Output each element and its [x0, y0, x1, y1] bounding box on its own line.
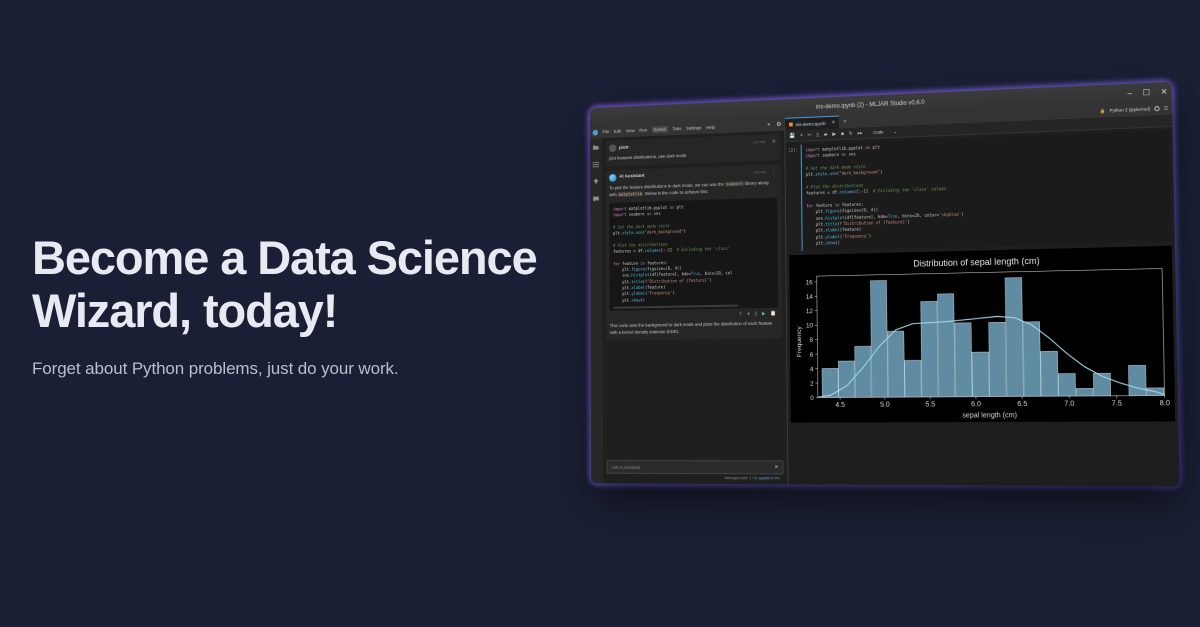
message-footer-text: This code sets the background to dark mo…: [610, 321, 779, 337]
run-icon[interactable]: ▶: [832, 131, 836, 137]
svg-text:6.0: 6.0: [971, 400, 981, 407]
insert-icon[interactable]: ⇧: [739, 312, 743, 318]
menu-settings[interactable]: Settings: [686, 125, 702, 130]
cut-icon[interactable]: ✂: [807, 132, 811, 138]
chat-message-assistant: AI Assistant 1:47 PM ⋮ To plot the featu…: [605, 164, 782, 341]
close-icon[interactable]: ✕: [772, 139, 776, 145]
svg-text:4: 4: [810, 365, 814, 372]
tab-label: iris-demo.ipynb: [796, 121, 826, 127]
message-text: plot features distributions, use dark mo…: [609, 150, 777, 163]
cell-prompt: [2]:: [788, 145, 799, 251]
window-controls: – ☐ ✕: [1127, 82, 1167, 103]
svg-text:7.5: 7.5: [1112, 400, 1123, 408]
notebook-cell-area[interactable]: [2]: import matplotlib.pyplot as plt imp…: [785, 127, 1179, 486]
cell-output: Distribution of sepal length (cm) 4.55.0…: [789, 245, 1175, 422]
chat-input-area: Ask AI Assistant ➤ Messages used: 1 / 30…: [603, 456, 788, 484]
kernel-status[interactable]: 🔒 Python 3 (ipykernel) ☰: [1100, 105, 1173, 114]
upgrade-link[interactable]: upgrade to Pro: [758, 476, 780, 480]
new-tab-button[interactable]: +: [839, 119, 850, 125]
svg-text:2: 2: [810, 380, 814, 387]
svg-text:8.0: 8.0: [1159, 399, 1170, 407]
quota-text: Messages used: 1 / 30: [725, 476, 758, 480]
maximize-button[interactable]: ☐: [1143, 88, 1151, 97]
paste-icon[interactable]: ▰: [824, 131, 828, 137]
svg-text:14: 14: [806, 293, 814, 300]
svg-text:sepal length (cm): sepal length (cm): [962, 412, 1017, 420]
add-cell-icon[interactable]: +: [800, 132, 803, 138]
more-options-icon[interactable]: ⋮: [771, 169, 776, 175]
menu-file[interactable]: File: [603, 129, 610, 134]
svg-text:5.5: 5.5: [925, 401, 935, 408]
cell-editor[interactable]: import matplotlib.pyplot as plt import s…: [801, 130, 1172, 250]
text-part-3: . Below is the code to achieve this:: [643, 189, 708, 196]
code-block-toolbar: ⇧ ▾ ▯ ▶ 📋: [610, 308, 779, 320]
chat-message-user: piotr 1:47 PM ✕ plot features distributi…: [605, 134, 780, 167]
hero-section: Become a Data Science Wizard, today! For…: [32, 232, 592, 379]
inline-code-matplotlib: matplotlib: [618, 191, 643, 197]
svg-text:Frequency: Frequency: [796, 325, 803, 357]
menu-run[interactable]: Run: [639, 128, 647, 133]
svg-text:7.0: 7.0: [1064, 400, 1074, 407]
restart-icon[interactable]: ↻: [849, 130, 853, 136]
svg-text:5.0: 5.0: [880, 401, 890, 408]
page-title: Become a Data Science Wizard, today!: [32, 232, 592, 337]
tab-close-icon[interactable]: ✕: [831, 120, 835, 126]
histogram-chart: Distribution of sepal length (cm) 4.55.0…: [791, 248, 1173, 420]
cell-type-select[interactable]: Code ⌄: [873, 128, 897, 135]
inline-code-seaborn: seaborn: [725, 181, 744, 187]
extensions-icon[interactable]: [593, 178, 599, 185]
cell-type-label: Code: [873, 130, 883, 135]
ai-chat-pane: File Edit View Run Kernel Tabs Settings …: [590, 118, 789, 485]
chevron-down-icon: ⌄: [893, 128, 897, 134]
copy-cell-icon[interactable]: ▯: [755, 311, 758, 317]
app-window-frame: iris-demo.ipynb (2) - MLJAR Studio v0.6.…: [590, 82, 1180, 487]
avatar: [609, 144, 616, 152]
copy-icon[interactable]: ▯: [816, 132, 819, 138]
notebook-cell: [2]: import matplotlib.pyplot as plt imp…: [788, 130, 1171, 251]
svg-text:6: 6: [810, 351, 814, 358]
menu-edit[interactable]: Edit: [614, 129, 621, 134]
message-quota-status: Messages used: 1 / 30 upgrade to Pro: [607, 474, 784, 481]
minimize-button[interactable]: –: [1127, 89, 1132, 97]
lock-icon: 🔒: [1100, 108, 1106, 114]
menu-icon[interactable]: ☰: [1164, 105, 1168, 111]
svg-text:10: 10: [806, 322, 814, 329]
add-icon[interactable]: +: [767, 122, 770, 128]
kernel-name: Python 3 (ipykernel): [1109, 106, 1150, 113]
message-author: piotr: [619, 145, 629, 150]
copy-icon[interactable]: 📋: [770, 311, 776, 317]
menu-kernel[interactable]: Kernel: [652, 126, 668, 133]
save-icon[interactable]: 💾: [789, 133, 795, 139]
notebook-file-icon: [789, 122, 793, 126]
list-icon[interactable]: [593, 161, 599, 168]
folder-icon[interactable]: [593, 144, 599, 151]
chat-icon[interactable]: [593, 196, 599, 203]
message-timestamp: 1:47 PM: [753, 140, 766, 144]
ai-avatar-icon: [609, 174, 616, 182]
fast-forward-icon[interactable]: ▸▸: [858, 130, 863, 136]
gear-icon[interactable]: ⚙: [776, 121, 781, 128]
kernel-idle-icon: [1154, 106, 1159, 111]
svg-text:8: 8: [810, 336, 814, 343]
svg-text:4.5: 4.5: [835, 401, 845, 408]
chat-message-list[interactable]: piotr 1:47 PM ✕ plot features distributi…: [602, 131, 788, 457]
svg-text:12: 12: [806, 308, 814, 315]
filter-icon[interactable]: ▾: [747, 311, 749, 317]
close-button[interactable]: ✕: [1161, 88, 1168, 97]
chat-code-block[interactable]: import matplotlib.pyplot as plt import s…: [609, 197, 778, 311]
message-text: To plot the feature distributions in dar…: [609, 180, 777, 199]
run-icon[interactable]: ▶: [762, 311, 766, 317]
hero-subtitle: Forget about Python problems, just do yo…: [32, 359, 592, 379]
menu-tabs[interactable]: Tabs: [672, 126, 681, 131]
window-title: iris-demo.ipynb (2) - MLJAR Studio v0.6.…: [816, 99, 925, 110]
svg-text:16: 16: [806, 279, 814, 286]
stop-icon[interactable]: ■: [841, 131, 844, 137]
message-timestamp: 1:47 PM: [753, 170, 766, 174]
send-icon[interactable]: ➤: [774, 464, 778, 470]
menu-help[interactable]: Help: [706, 125, 715, 130]
svg-text:6.5: 6.5: [1017, 400, 1027, 407]
message-author: AI Assistant: [619, 174, 644, 180]
app-screenshot: iris-demo.ipynb (2) - MLJAR Studio v0.6.…: [566, 84, 1186, 504]
chat-input[interactable]: Ask AI Assistant ➤: [607, 460, 784, 474]
svg-text:0: 0: [810, 394, 814, 401]
jupyter-logo-icon: [593, 129, 598, 135]
chat-input-placeholder: Ask AI Assistant: [611, 464, 640, 469]
notebook-pane: iris-demo.ipynb ✕ + 🔒 Python 3 (ipykerne…: [785, 101, 1180, 486]
menu-view[interactable]: View: [626, 128, 635, 133]
